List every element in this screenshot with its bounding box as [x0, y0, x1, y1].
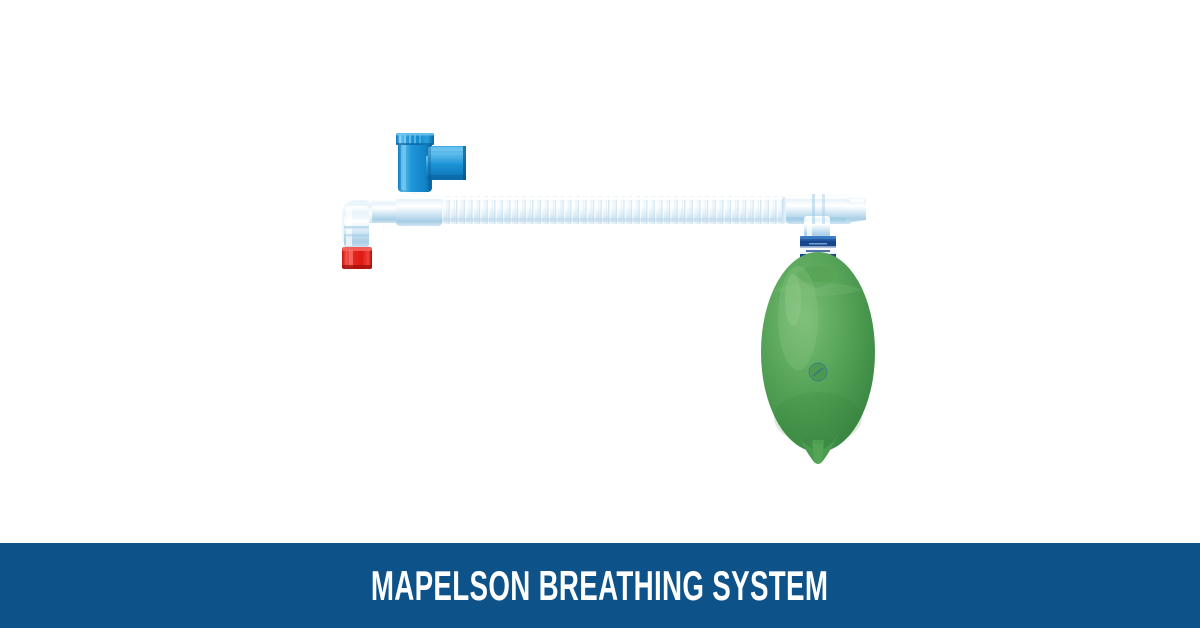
page-root: MAPELSON BREATHING SYSTEM	[0, 0, 1200, 628]
title-banner: MAPELSON BREATHING SYSTEM	[0, 543, 1200, 628]
reservoir-bag	[761, 252, 875, 464]
corrugated-tube	[440, 196, 785, 224]
illustration-area	[0, 0, 1200, 543]
t-connector	[782, 194, 866, 238]
banner-title: MAPELSON BREATHING SYSTEM	[371, 565, 828, 607]
red-cap	[342, 247, 372, 269]
breathing-system-illustration	[0, 0, 1200, 543]
